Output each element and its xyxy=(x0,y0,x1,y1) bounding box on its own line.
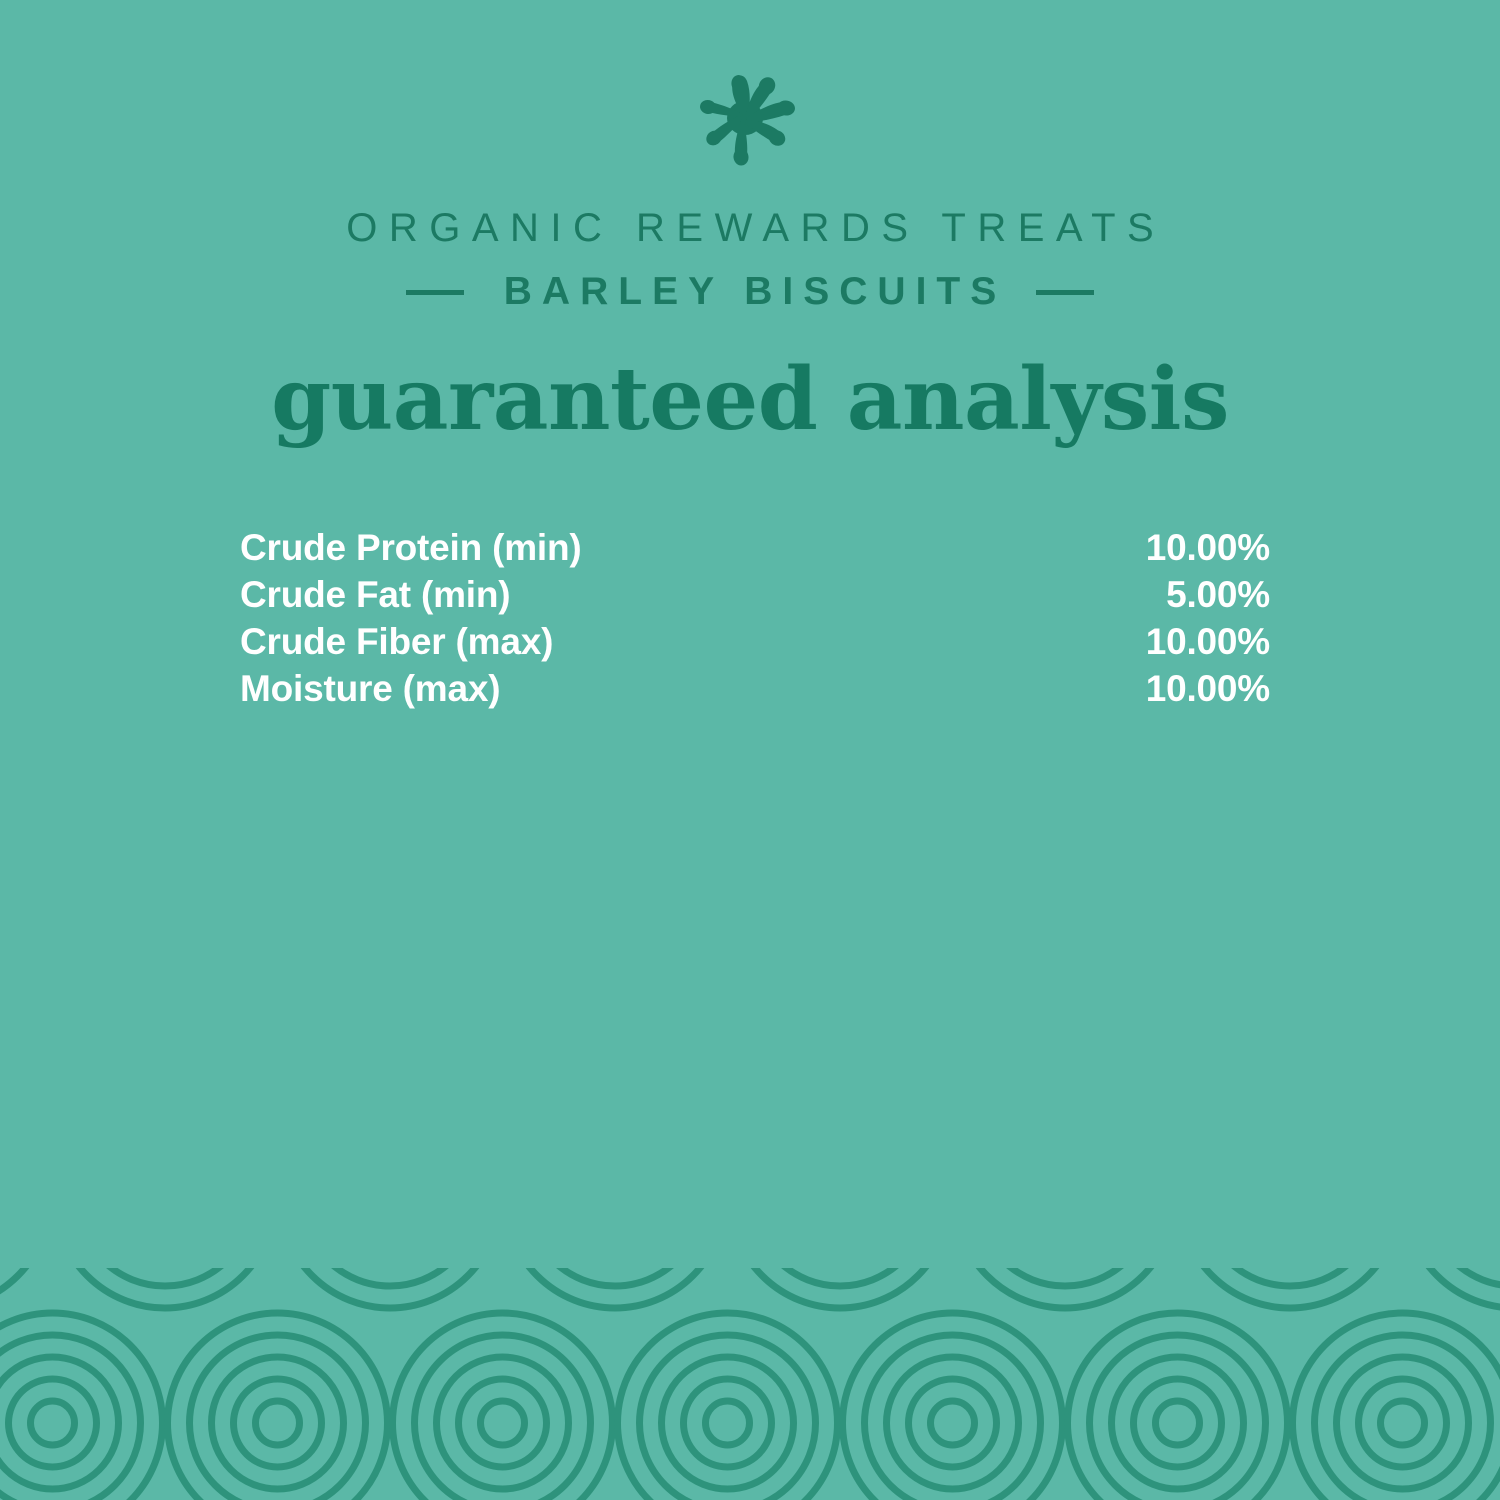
brand-logo xyxy=(0,72,1500,168)
page-title: guaranteed analysis xyxy=(0,350,1500,450)
variant-row: BARLEY BISCUITS xyxy=(0,268,1500,316)
nutrient-label: Moisture (max) xyxy=(240,665,500,712)
guaranteed-analysis-table: Crude Protein (min) 10.00% Crude Fat (mi… xyxy=(240,524,1270,712)
nutrient-label: Crude Protein (min) xyxy=(240,524,582,571)
label-panel: ORGANIC REWARDS TREATS BARLEY BISCUITS g… xyxy=(0,0,1500,1500)
rule-dash-left xyxy=(406,290,464,295)
nutrient-label: Crude Fat (min) xyxy=(240,571,510,618)
nutrient-value: 10.00% xyxy=(1146,618,1270,665)
nutrient-value: 10.00% xyxy=(1146,524,1270,571)
table-row: Crude Fiber (max) 10.00% xyxy=(240,618,1270,665)
product-line-text: ORGANIC REWARDS TREATS xyxy=(0,203,1500,253)
variant-line-text: BARLEY BISCUITS xyxy=(494,270,1007,314)
table-row: Crude Protein (min) 10.00% xyxy=(240,524,1270,571)
table-row: Moisture (max) 10.00% xyxy=(240,665,1270,712)
leaf-splat-icon xyxy=(690,72,810,168)
nutrient-value: 5.00% xyxy=(1166,571,1270,618)
rule-dash-right xyxy=(1036,290,1094,295)
nutrient-value: 10.00% xyxy=(1146,665,1270,712)
nutrient-label: Crude Fiber (max) xyxy=(240,618,553,665)
concentric-circles-pattern xyxy=(0,1268,1500,1500)
table-row: Crude Fat (min) 5.00% xyxy=(240,571,1270,618)
